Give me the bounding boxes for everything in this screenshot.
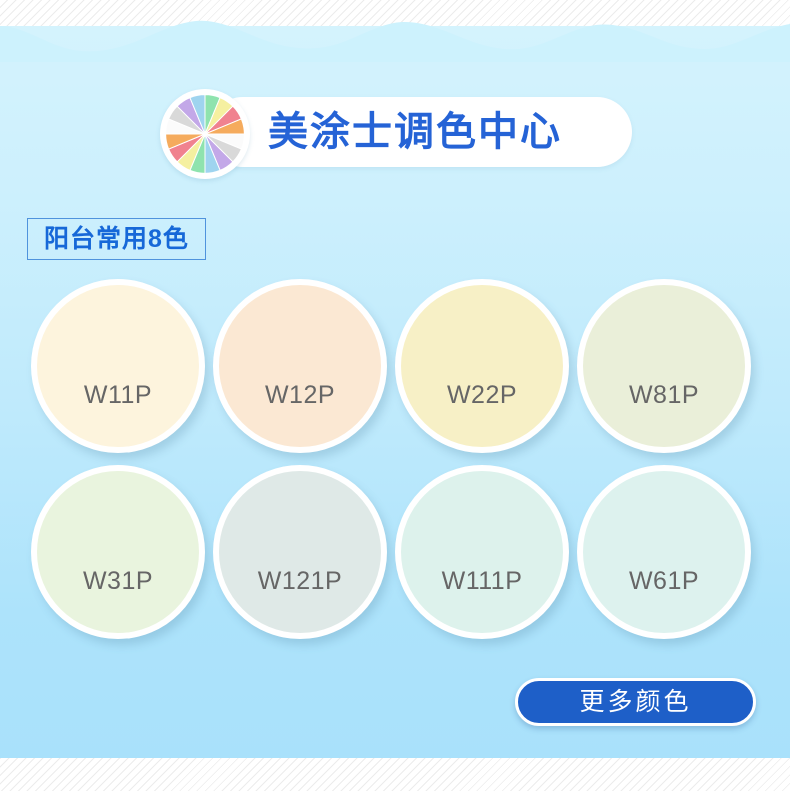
color-swatch-w121p[interactable]: W121P <box>213 465 387 639</box>
more-colors-button[interactable]: 更多颜色 <box>515 678 756 726</box>
color-swatch-w22p[interactable]: W22P <box>395 279 569 453</box>
color-swatch-w31p[interactable]: W31P <box>31 465 205 639</box>
color-swatch-code: W61P <box>629 569 699 594</box>
section-label-text: 阳台常用8色 <box>44 227 189 252</box>
page-title: 美涂士调色中心 <box>268 99 618 165</box>
section-label-box: 阳台常用8色 <box>27 218 206 260</box>
color-swatch-fill: W11P <box>37 285 199 447</box>
color-wheel-svg <box>164 93 246 175</box>
swatch-row: W31PW121PW111PW61P <box>31 465 761 639</box>
color-swatch-fill: W22P <box>401 285 563 447</box>
color-swatch-w61p[interactable]: W61P <box>577 465 751 639</box>
color-swatch-w111p[interactable]: W111P <box>395 465 569 639</box>
swatch-row: W11PW12PW22PW81P <box>31 279 761 453</box>
color-swatch-w12p[interactable]: W12P <box>213 279 387 453</box>
color-swatch-fill: W111P <box>401 471 563 633</box>
color-swatch-fill: W81P <box>583 285 745 447</box>
more-colors-button-label: 更多颜色 <box>579 690 691 715</box>
color-swatch-code: W31P <box>83 569 153 594</box>
color-center-page: 美涂士调色中心 阳台常用8色 W11PW12PW22PW81PW31PW121P… <box>0 0 790 791</box>
color-wheel-icon <box>160 89 250 179</box>
color-swatch-code: W111P <box>442 569 523 594</box>
color-swatch-code: W121P <box>258 569 342 594</box>
color-swatch-w11p[interactable]: W11P <box>31 279 205 453</box>
color-swatch-fill: W31P <box>37 471 199 633</box>
color-swatch-code: W11P <box>84 383 152 408</box>
color-swatch-fill: W12P <box>219 285 381 447</box>
color-swatch-grid: W11PW12PW22PW81PW31PW121PW111PW61P <box>31 279 761 651</box>
color-swatch-fill: W61P <box>583 471 745 633</box>
color-swatch-code: W22P <box>447 383 517 408</box>
color-swatch-fill: W121P <box>219 471 381 633</box>
color-swatch-w81p[interactable]: W81P <box>577 279 751 453</box>
color-swatch-code: W81P <box>629 383 699 408</box>
color-swatch-code: W12P <box>265 383 335 408</box>
